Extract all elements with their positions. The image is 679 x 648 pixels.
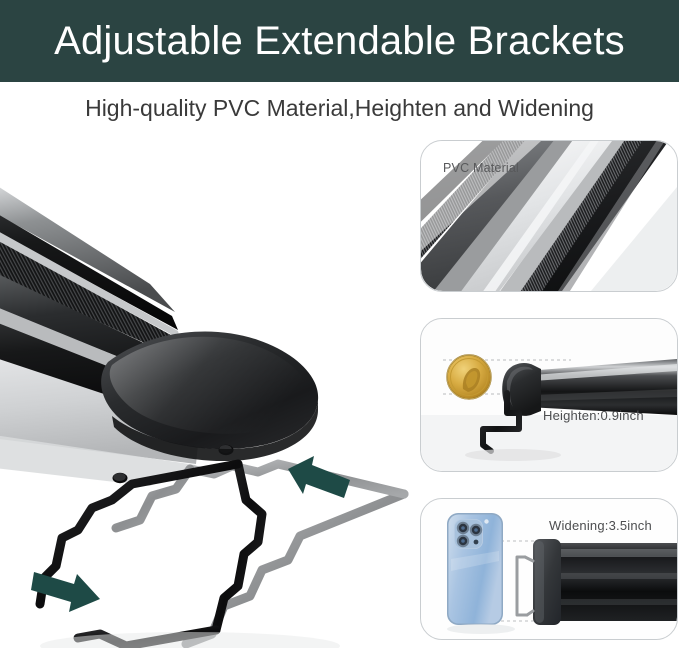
product-infographic: Adjustable Extendable Brackets High-qual… [0, 0, 679, 648]
coin-icon [447, 355, 491, 399]
subtitle-text: High-quality PVC Material,Heighten and W… [85, 97, 594, 120]
panel-heighten: Heighten:0.9inch [420, 318, 678, 472]
subtitle-bar: High-quality PVC Material,Heighten and W… [0, 82, 679, 134]
panel-widening: Widening:3.5inch [420, 498, 678, 640]
pvc-material-illustration [421, 141, 677, 291]
page-title: Adjustable Extendable Brackets [54, 21, 625, 61]
hero-illustration [0, 134, 412, 648]
panel-pvc-material: PVC Material [420, 140, 678, 292]
heighten-illustration [421, 319, 677, 471]
hero-product-image [0, 134, 412, 648]
smartphone-icon [447, 513, 503, 625]
end-cap-block [533, 539, 561, 625]
header-banner: Adjustable Extendable Brackets [0, 0, 679, 82]
widening-illustration [421, 499, 677, 639]
